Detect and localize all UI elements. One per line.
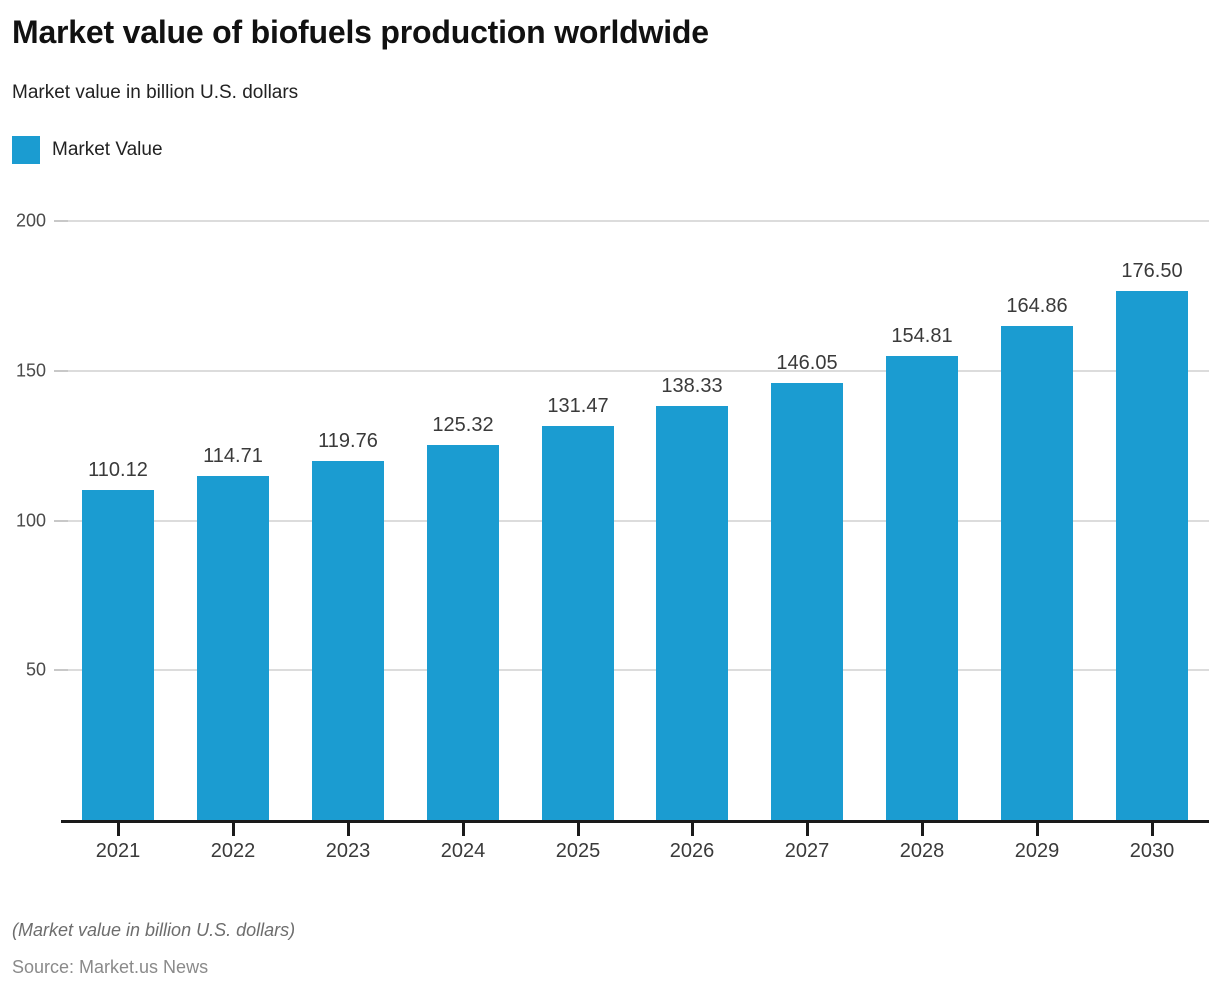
bar-value-label-2029: 164.86 <box>1006 295 1067 318</box>
bar-2022[interactable] <box>197 476 269 820</box>
x-axis-tick-label-2022: 2022 <box>211 840 256 863</box>
x-axis-tick-label-2028: 2028 <box>900 840 945 863</box>
x-tick-mark-2024 <box>462 823 465 836</box>
x-tick-mark-2028 <box>921 823 924 836</box>
bar-2025[interactable] <box>542 426 614 820</box>
bar-2023[interactable] <box>312 461 384 820</box>
x-axis-tick-label-2024: 2024 <box>441 840 486 863</box>
bar-2021[interactable] <box>82 490 154 820</box>
chart-footnote: (Market value in billion U.S. dollars) <box>12 920 295 941</box>
x-axis-tick-label-2023: 2023 <box>326 840 371 863</box>
bar-value-label-2021: 110.12 <box>88 459 148 482</box>
x-tick-mark-2030 <box>1151 823 1154 836</box>
y-axis-tick-label: 200 <box>0 211 46 232</box>
bar-2027[interactable] <box>771 383 843 820</box>
bar-2026[interactable] <box>656 406 728 820</box>
x-tick-mark-2026 <box>691 823 694 836</box>
y-axis-tick-label: 100 <box>0 510 46 531</box>
x-axis-tick-label-2025: 2025 <box>556 840 601 863</box>
bar-value-label-2024: 125.32 <box>432 414 493 437</box>
y-tick-mark-150 <box>54 370 68 372</box>
x-axis-tick-label-2021: 2021 <box>96 840 141 863</box>
bar-value-label-2028: 154.81 <box>891 325 952 348</box>
plot-area: 50100150200110.122021114.712022119.76202… <box>0 0 1220 994</box>
chart-source: Source: Market.us News <box>12 957 208 978</box>
x-tick-mark-2022 <box>232 823 235 836</box>
y-tick-mark-50 <box>54 669 68 671</box>
bar-2024[interactable] <box>427 445 499 820</box>
x-tick-mark-2023 <box>347 823 350 836</box>
bar-2029[interactable] <box>1001 326 1073 820</box>
y-axis-tick-label: 150 <box>0 360 46 381</box>
x-axis-tick-label-2026: 2026 <box>670 840 715 863</box>
y-axis-tick-label: 50 <box>0 660 46 681</box>
x-tick-mark-2021 <box>117 823 120 836</box>
bar-value-label-2022: 114.71 <box>203 445 263 468</box>
bar-2030[interactable] <box>1116 291 1188 820</box>
x-axis-tick-label-2027: 2027 <box>785 840 830 863</box>
x-tick-mark-2025 <box>577 823 580 836</box>
bar-value-label-2026: 138.33 <box>661 375 722 398</box>
gridline-200 <box>61 220 1209 222</box>
x-axis-tick-label-2029: 2029 <box>1015 840 1060 863</box>
x-tick-mark-2027 <box>806 823 809 836</box>
y-tick-mark-200 <box>54 220 68 222</box>
bar-value-label-2030: 176.50 <box>1121 260 1182 283</box>
x-axis-tick-label-2030: 2030 <box>1130 840 1175 863</box>
bar-2028[interactable] <box>886 356 958 820</box>
chart-page: Market value of biofuels production worl… <box>0 0 1220 994</box>
bar-value-label-2027: 146.05 <box>776 352 837 375</box>
bar-value-label-2025: 131.47 <box>547 395 608 418</box>
x-tick-mark-2029 <box>1036 823 1039 836</box>
bar-value-label-2023: 119.76 <box>318 430 378 453</box>
y-tick-mark-100 <box>54 520 68 522</box>
